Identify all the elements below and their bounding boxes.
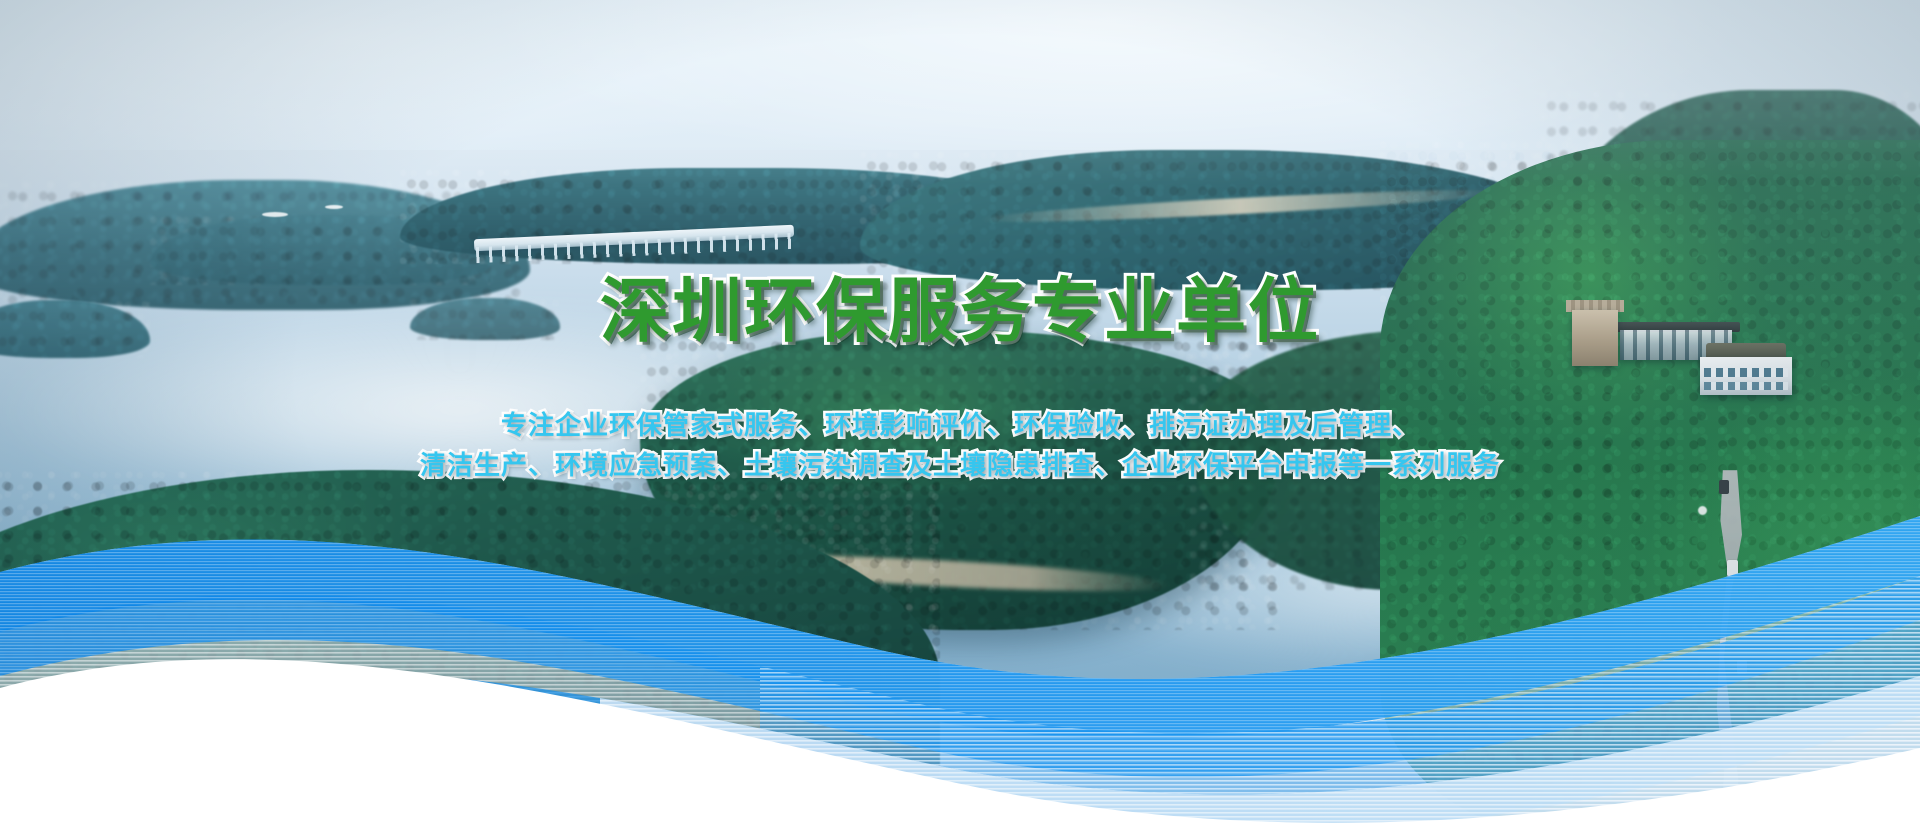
hillside-white-building bbox=[1700, 357, 1792, 395]
water-speck bbox=[262, 212, 288, 217]
banner-subtitle-line-1: 专注企业环保管家式服务、环境影响评价、环保验收、排污证办理及后管理、 bbox=[501, 412, 1419, 438]
foreground-mountain-left bbox=[0, 470, 940, 840]
island-left-edge bbox=[0, 300, 150, 358]
hero-banner: 深圳环保服务专业单位 专注企业环保管家式服务、环境影响评价、环保验收、排污证办理… bbox=[0, 0, 1920, 840]
vehicle-on-road bbox=[1727, 560, 1738, 576]
banner-headline: 深圳环保服务专业单位 bbox=[600, 276, 1320, 346]
water-speck bbox=[325, 205, 343, 209]
vehicle-on-road-2 bbox=[1737, 660, 1747, 674]
water-speck bbox=[1698, 506, 1707, 515]
hillside-right bbox=[1380, 140, 1920, 840]
hillside-stone-tower bbox=[1572, 310, 1618, 366]
island-small-center-left bbox=[410, 298, 560, 340]
vehicle-on-road-3 bbox=[1719, 480, 1729, 494]
banner-subtitle-line-2: 清洁生产、环境应急预案、土壤污染调查及土壤隐患排查、企业环保平台申报等一系列服务 bbox=[420, 452, 1500, 478]
